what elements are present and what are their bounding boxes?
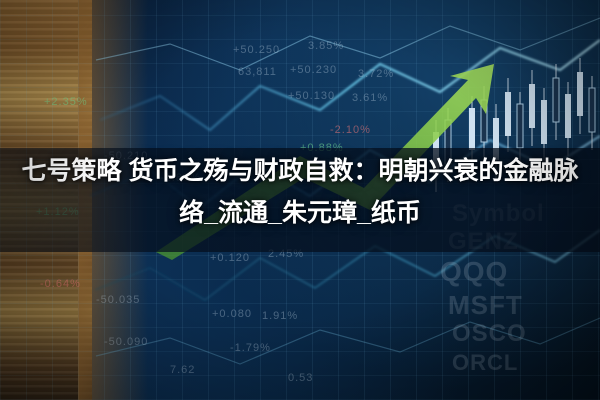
ticker-value-15: -50.090 [104, 336, 148, 348]
image-canvas: Symbol GENZ QQQ MSFT OSCO ORCL +50.250 3… [0, 0, 600, 400]
ticker-value-13: +0.080 [212, 308, 252, 320]
loss-tag-2: -2.10% [330, 124, 371, 136]
watermark-orcl: ORCL [452, 350, 518, 376]
loss-tag-1: -0.64% [40, 278, 81, 290]
watermark-msft: MSFT [448, 290, 523, 321]
headline-line-2: 络_流通_朱元璋_纸币 [14, 192, 586, 234]
ticker-value-1: +50.250 [233, 44, 280, 56]
ticker-value-16: -1.79% [230, 342, 271, 354]
ticker-value-5: 3.72% [358, 68, 394, 80]
page-title: 七号策略 货币之殇与财政自救：明朝兴衰的金融脉 络_流通_朱元璋_纸币 [0, 150, 600, 234]
ticker-value-10: +0.120 [210, 252, 250, 264]
ticker-value-3: 63,811 [238, 66, 277, 78]
ticker-value-14: 1.91% [262, 310, 298, 322]
gain-tag-1: +2.35% [44, 96, 88, 108]
ticker-value-6: +50.130 [288, 90, 335, 102]
ticker-value-4: +50.230 [290, 64, 337, 76]
ticker-value-7: 3.61% [352, 92, 388, 104]
ticker-value-12: -50.035 [96, 294, 140, 306]
ticker-value-18: 0.53 [288, 372, 313, 384]
ticker-value-17: 7.62 [170, 364, 195, 376]
watermark-qqq: QQQ [440, 256, 508, 288]
ticker-value-2: 3.85% [308, 40, 344, 52]
watermark-osco: OSCO [452, 320, 527, 348]
headline-line-1: 七号策略 货币之殇与财政自救：明朝兴衰的金融脉 [22, 157, 579, 185]
